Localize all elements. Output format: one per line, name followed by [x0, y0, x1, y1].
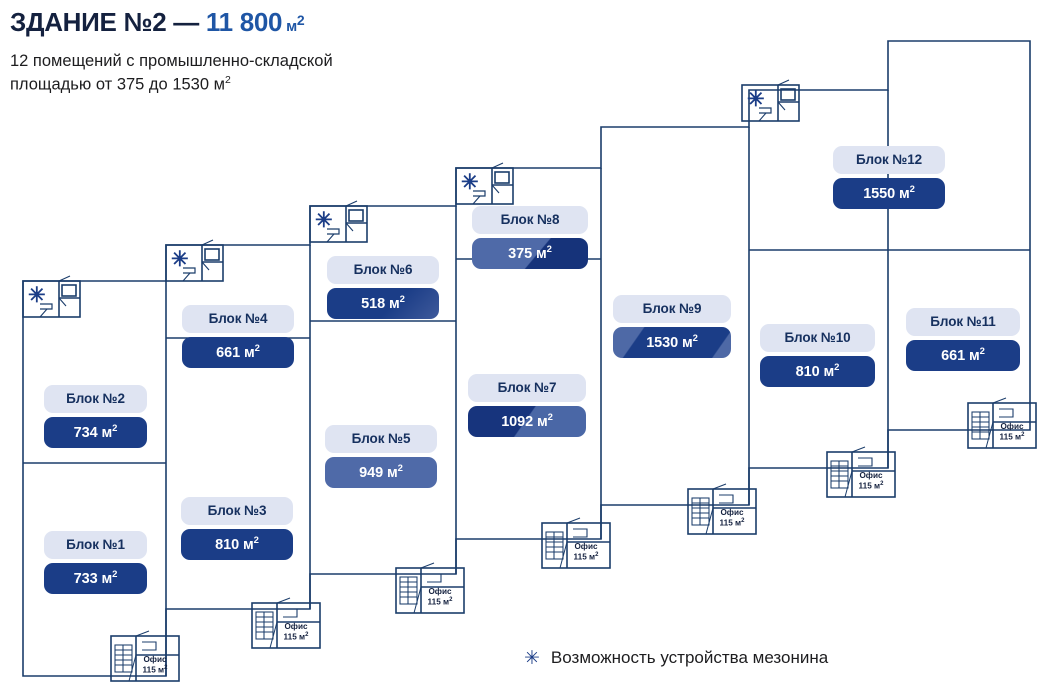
- office-label-2: Офис 115 м2: [273, 622, 319, 642]
- mezzanine-star-icon-1: ✳: [28, 285, 46, 306]
- office-label-sup: 2: [1021, 432, 1024, 438]
- block-6[interactable]: Блок №6 518 м2: [327, 256, 439, 319]
- block-8-name: Блок №8: [472, 206, 588, 234]
- mezzanine-star-icon-3: ✳: [315, 210, 333, 231]
- office-label-name: Офис: [720, 508, 743, 517]
- block-4-area: 661 м2: [182, 337, 294, 368]
- block-8-area: 375 м2: [472, 238, 588, 269]
- office-label-name: Офис: [1000, 422, 1023, 431]
- mezzanine-star-icon-4: ✳: [461, 172, 479, 193]
- office-label-name: Офис: [859, 471, 882, 480]
- block-2-name: Блок №2: [44, 385, 147, 413]
- block-9-area: 1530 м2: [613, 327, 731, 358]
- block-9-name: Блок №9: [613, 295, 731, 323]
- block-7[interactable]: Блок №7 1092 м2: [468, 374, 586, 437]
- office-label-name: Офис: [284, 622, 307, 631]
- office-label-area: 115 м: [1000, 432, 1022, 441]
- office-label-7: Офис 115 м2: [989, 422, 1035, 442]
- footnote-star-icon: ✳: [524, 649, 540, 668]
- office-label-sup: 2: [164, 665, 167, 671]
- block-8[interactable]: Блок №8 375 м2: [472, 206, 588, 269]
- block-9[interactable]: Блок №9 1530 м2: [613, 295, 731, 358]
- office-label-sup: 2: [595, 552, 598, 558]
- block-11[interactable]: Блок №11 661 м2: [906, 308, 1020, 371]
- mezzanine-footnote: ✳ Возможность устройства мезонина: [524, 648, 828, 668]
- block-5-name: Блок №5: [325, 425, 437, 453]
- block-3[interactable]: Блок №3 810 м2: [181, 497, 293, 560]
- office-label-5: Офис 115 м2: [709, 508, 755, 528]
- block-12-name: Блок №12: [833, 146, 945, 174]
- block-1-area: 733 м2: [44, 563, 147, 594]
- office-label-sup: 2: [305, 632, 308, 638]
- block-2[interactable]: Блок №2 734 м2: [44, 385, 147, 448]
- block-5[interactable]: Блок №5 949 м2: [325, 425, 437, 488]
- office-label-area: 115 м: [720, 518, 742, 527]
- block-1[interactable]: Блок №1 733 м2: [44, 531, 147, 594]
- block-4-name: Блок №4: [182, 305, 294, 333]
- plan-outline-svg: [0, 0, 1040, 685]
- block-12[interactable]: Блок №12 1550 м2: [833, 146, 945, 209]
- block-12-area: 1550 м2: [833, 178, 945, 209]
- office-label-1: Офис 115 м2: [132, 655, 178, 675]
- office-label-sup: 2: [741, 518, 744, 524]
- block-6-name: Блок №6: [327, 256, 439, 284]
- footnote-text: Возможность устройства мезонина: [551, 648, 828, 668]
- office-label-area: 115 м: [859, 481, 881, 490]
- block-7-name: Блок №7: [468, 374, 586, 402]
- mezzanine-star-icon-5: ✳: [747, 89, 765, 110]
- office-label-area: 115 м: [574, 552, 596, 561]
- block-5-area: 949 м2: [325, 457, 437, 488]
- office-label-3: Офис 115 м2: [417, 587, 463, 607]
- office-label-area: 115 м: [428, 597, 450, 606]
- block-4[interactable]: Блок №4 661 м2: [182, 305, 294, 368]
- mezzanine-star-icon-2: ✳: [171, 249, 189, 270]
- office-label-6: Офис 115 м2: [848, 471, 894, 491]
- block-10[interactable]: Блок №10 810 м2: [760, 324, 875, 387]
- office-label-area: 115 м: [143, 665, 165, 674]
- block-10-area: 810 м2: [760, 356, 875, 387]
- block-3-name: Блок №3: [181, 497, 293, 525]
- block-11-area: 661 м2: [906, 340, 1020, 371]
- office-label-name: Офис: [143, 655, 166, 664]
- office-label-sup: 2: [449, 597, 452, 603]
- block-6-area: 518 м2: [327, 288, 439, 319]
- block-3-area: 810 м2: [181, 529, 293, 560]
- floorplan-page: ЗДАНИЕ №2 — 11 800 м2 12 помещений с про…: [0, 0, 1040, 685]
- block-7-area: 1092 м2: [468, 406, 586, 437]
- block-11-name: Блок №11: [906, 308, 1020, 336]
- block-1-name: Блок №1: [44, 531, 147, 559]
- building-plan: ✳ ✳ ✳ ✳ ✳ Офис 115 м2 Офис 115 м2 Офис 1…: [0, 0, 1040, 685]
- office-label-sup: 2: [880, 481, 883, 487]
- block-10-name: Блок №10: [760, 324, 875, 352]
- office-label-name: Офис: [574, 542, 597, 551]
- building-perimeter: [23, 41, 1030, 676]
- office-label-4: Офис 115 м2: [563, 542, 609, 562]
- office-label-area: 115 м: [284, 632, 306, 641]
- block-2-area: 734 м2: [44, 417, 147, 448]
- office-label-name: Офис: [428, 587, 451, 596]
